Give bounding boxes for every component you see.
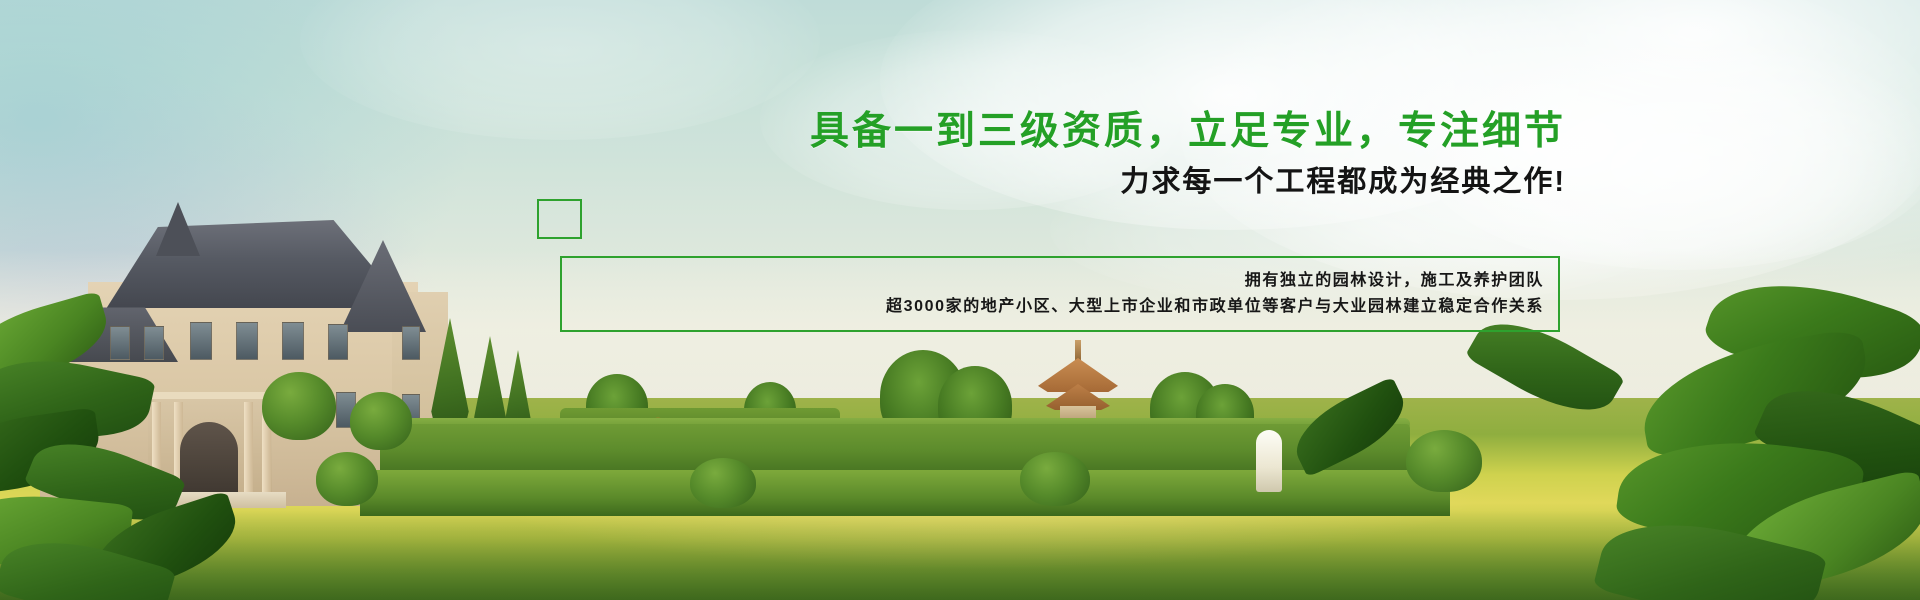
foreground-foliage-left [0,300,300,600]
shrub [1020,452,1090,506]
decorative-corner-square [537,199,582,239]
body-text-group: 拥有独立的园林设计，施工及养护团队 超3000家的地产小区、大型上市企业和市政单… [600,256,1544,332]
white-fountain [1256,430,1282,492]
mansion-window [328,324,348,360]
body-line-2: 超3000家的地产小区、大型上市企业和市政单位等客户与大业园林建立稳定合作关系 [886,299,1544,315]
body-line-1: 拥有独立的园林设计，施工及养护团队 [1245,273,1544,289]
hero-banner: 具备一到三级资质，立足专业，专注细节 力求每一个工程都成为经典之作! 拥有独立的… [0,0,1920,600]
shrub [316,452,378,506]
shrub [1406,430,1482,492]
banner-subheadline: 力求每一个工程都成为经典之作! [686,168,1566,197]
banner-headline: 具备一到三级资质，立足专业，专注细节 [686,112,1566,151]
foreground-foliage-right [1580,290,1920,600]
garden-pavilion [1038,340,1118,428]
mansion-window [402,326,420,360]
shrub [350,392,412,450]
shrub [690,458,756,508]
